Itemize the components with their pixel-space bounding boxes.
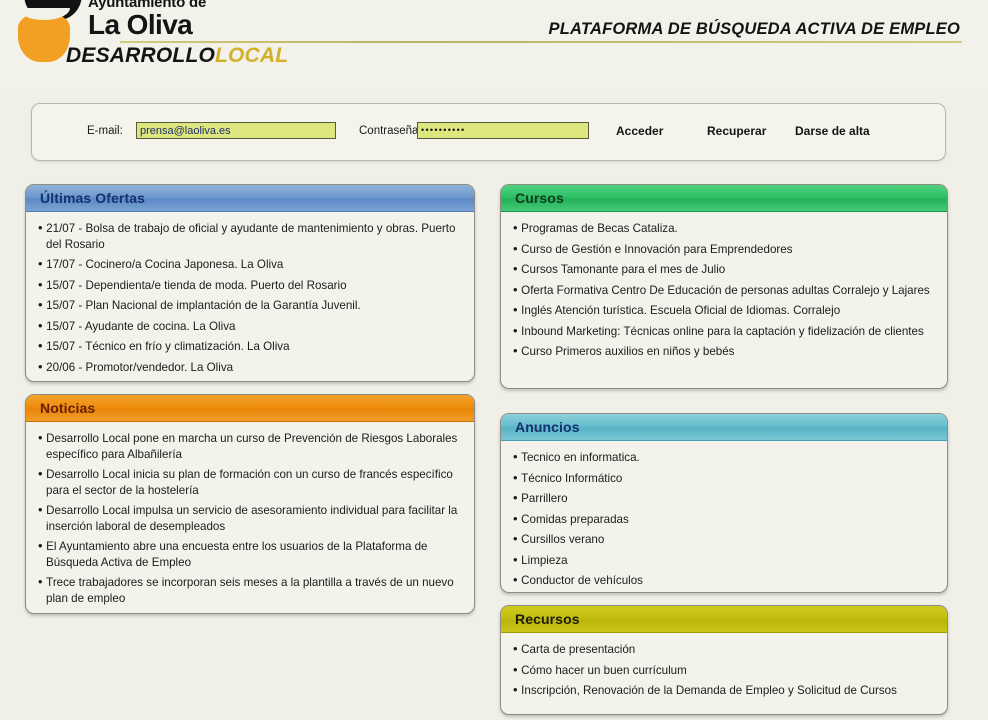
bullet-icon: • [513,682,521,697]
panel-body-recursos: • Carta de presentación• Cómo hacer un b… [501,633,947,709]
bullet-icon: • [38,538,46,553]
logo-line-la-oliva: La Oliva [88,10,206,39]
panel-body-cursos: • Programas de Becas Cataliza.• Curso de… [501,212,947,370]
list-item[interactable]: • Conductor de vehículos [513,572,935,589]
list-item[interactable]: • El Ayuntamiento abre una encuesta entr… [38,538,462,570]
panel-body-noticias: • Desarrollo Local pone en marcha un cur… [26,422,474,614]
bullet-icon: • [513,511,521,526]
logo-tagline: DESARROLLOLOCAL [66,44,288,68]
bullet-icon: • [38,220,46,235]
list-item[interactable]: • Trece trabajadores se incorporan seis … [38,574,462,606]
email-label: E-mail: [87,125,123,137]
list-item[interactable]: • Cursos Tamonante para el mes de Julio [513,261,935,278]
list-item[interactable]: • Curso Primeros auxilios en niños y beb… [513,343,935,360]
list-item-label: Inbound Marketing: Técnicas online para … [521,325,924,338]
bullet-icon: • [513,449,521,464]
bullet-icon: • [513,641,521,656]
bullet-icon: • [513,220,521,235]
darse-de-alta-link[interactable]: Darse de alta [795,124,870,138]
list-item-label: Cómo hacer un buen currículum [521,664,687,677]
page-header: Ayuntamiento de La Oliva DESARROLLOLOCAL… [0,0,988,88]
panel-cursos: Cursos • Programas de Becas Cataliza.• C… [500,184,948,389]
list-item[interactable]: • 15/07 - Técnico en frío y climatizació… [38,338,462,355]
list-item-label: Cursos Tamonante para el mes de Julio [521,263,725,276]
login-bar: E-mail: Contraseña: •••••••••• Acceder R… [31,103,946,161]
list-item[interactable]: • Carta de presentación [513,641,935,658]
list-item[interactable]: • Inglés Atención turística. Escuela Ofi… [513,302,935,319]
list-item[interactable]: • Desarrollo Local pone en marcha un cur… [38,430,462,462]
list-item[interactable]: • Parrillero [513,490,935,507]
list-item-label: Comidas preparadas [521,513,629,526]
bullet-icon: • [38,466,46,481]
list-item[interactable]: • Desarrollo Local impulsa un servicio d… [38,502,462,534]
panel-title-recursos: Recursos [501,606,947,633]
recuperar-link[interactable]: Recuperar [707,124,766,138]
bullet-icon: • [513,323,521,338]
bullet-icon: • [513,490,521,505]
list-item-label: Limpieza [521,554,567,567]
panel-title-ultimas-ofertas: Últimas Ofertas [26,185,474,212]
list-item-label: Cursillos verano [521,533,604,546]
tagline-accent: LOCAL [215,44,288,67]
panel-recursos: Recursos • Carta de presentación• Cómo h… [500,605,948,715]
bullet-icon: • [513,470,521,485]
bullet-icon: • [38,502,46,517]
list-item-label: 17/07 - Cocinero/a Cocina Japonesa. La O… [46,258,283,271]
list-item[interactable]: • Cursillos verano [513,531,935,548]
list-item-label: Parrillero [521,492,567,505]
panel-title-cursos: Cursos [501,185,947,212]
tagline-main: DESARROLLO [66,44,215,67]
panel-ultimas-ofertas: Últimas Ofertas • 21/07 - Bolsa de traba… [25,184,475,382]
list-item[interactable]: • Cómo hacer un buen currículum [513,662,935,679]
bullet-icon: • [513,572,521,587]
list-item-label: Desarrollo Local impulsa un servicio de … [46,504,457,533]
list-item-label: Curso Primeros auxilios en niños y bebés [521,345,734,358]
list-item-label: 15/07 - Técnico en frío y climatización.… [46,340,289,353]
list-item-label: Desarrollo Local inicia su plan de forma… [46,468,453,497]
list-item-label: Oferta Formativa Centro De Educación de … [521,284,930,297]
bullet-icon: • [513,552,521,567]
bullet-icon: • [38,359,46,374]
bullet-icon: • [38,574,46,589]
bullet-icon: • [38,277,46,292]
bullet-icon: • [38,338,46,353]
panel-title-anuncios: Anuncios [501,414,947,441]
bullet-icon: • [513,531,521,546]
list-item-label: 21/07 - Bolsa de trabajo de oficial y ay… [46,222,455,251]
bullet-icon: • [38,430,46,445]
list-item[interactable]: • Oferta Formativa Centro De Educación d… [513,282,935,299]
list-item-label: Tecnico en informatica. [521,451,640,464]
password-label: Contraseña: [359,125,422,137]
panel-body-ultimas-ofertas: • 21/07 - Bolsa de trabajo de oficial y … [26,212,474,382]
bullet-icon: • [513,343,521,358]
list-item[interactable]: • Desarrollo Local inicia su plan de for… [38,466,462,498]
header-divider-rule [120,41,962,43]
list-item[interactable]: • 15/07 - Dependienta/e tienda de moda. … [38,277,462,294]
list-item[interactable]: • Inbound Marketing: Técnicas online par… [513,323,935,340]
panel-title-noticias: Noticias [26,395,474,422]
list-item[interactable]: • 15/07 - Ayudante de cocina. La Oliva [38,318,462,335]
list-item[interactable]: • Tecnico en informatica. [513,449,935,466]
list-item[interactable]: • 17/07 - Cocinero/a Cocina Japonesa. La… [38,256,462,273]
bullet-icon: • [513,302,521,317]
panel-anuncios: Anuncios • Tecnico en informatica.• Técn… [500,413,948,593]
list-item-label: Carta de presentación [521,643,635,656]
bullet-icon: • [513,241,521,256]
email-field[interactable] [136,122,336,139]
list-item-label: 15/07 - Ayudante de cocina. La Oliva [46,320,235,333]
list-item-label: Conductor de vehículos [521,574,643,587]
list-item-label: Inscripción, Renovación de la Demanda de… [521,684,897,697]
list-item[interactable]: • Curso de Gestión e Innovación para Emp… [513,241,935,258]
list-item[interactable]: • 15/07 - Plan Nacional de implantación … [38,297,462,314]
list-item[interactable]: • 21/07 - Bolsa de trabajo de oficial y … [38,220,462,252]
list-item-label: Curso de Gestión e Innovación para Empre… [521,243,792,256]
acceder-button[interactable]: Acceder [616,124,663,138]
panel-body-anuncios: • Tecnico en informatica.• Técnico Infor… [501,441,947,593]
list-item-label: Desarrollo Local pone en marcha un curso… [46,432,457,461]
bullet-icon: • [38,256,46,271]
password-field[interactable]: •••••••••• [417,122,589,139]
panel-noticias: Noticias • Desarrollo Local pone en marc… [25,394,475,614]
list-item[interactable]: • Técnico Informático [513,470,935,487]
list-item[interactable]: • Programas de Becas Cataliza. [513,220,935,237]
bullet-icon: • [38,297,46,312]
bullet-icon: • [38,318,46,333]
list-item-label: 15/07 - Dependienta/e tienda de moda. Pu… [46,279,346,292]
list-item[interactable]: • Limpieza [513,552,935,569]
logo-olive-shape [18,12,70,62]
list-item[interactable]: • Comidas preparadas [513,511,935,528]
list-item-label: 20/06 - Promotor/vendedor. La Oliva [46,361,233,374]
bullet-icon: • [513,662,521,677]
page-title: PLATAFORMA DE BÚSQUEDA ACTIVA DE EMPLEO [549,20,960,39]
list-item-label: Trece trabajadores se incorporan seis me… [46,576,454,605]
bullet-icon: • [513,282,521,297]
list-item-label: El Ayuntamiento abre una encuesta entre … [46,540,428,569]
list-item[interactable]: • Inscripción, Renovación de la Demanda … [513,682,935,699]
list-item-label: 15/07 - Plan Nacional de implantación de… [46,299,361,312]
logo-wordmark: Ayuntamiento de La Oliva [88,0,206,39]
bullet-icon: • [513,261,521,276]
list-item-label: Técnico Informático [521,472,622,485]
list-item-label: Programas de Becas Cataliza. [521,222,678,235]
list-item[interactable]: • 20/06 - Promotor/vendedor. La Oliva [38,359,462,376]
list-item-label: Inglés Atención turística. Escuela Ofici… [521,304,840,317]
